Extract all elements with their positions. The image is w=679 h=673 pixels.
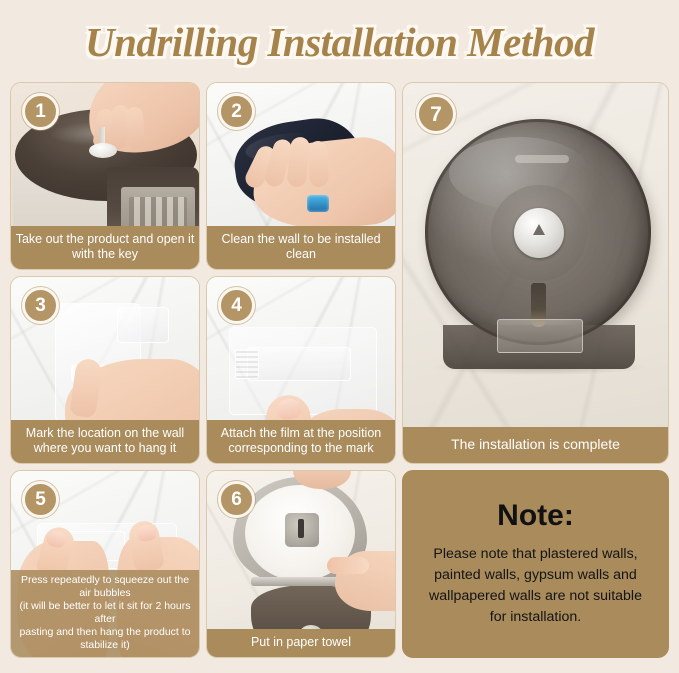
step-caption-5-line-2: (it will be better to let it sit for 2 h… [14,600,196,626]
key-knob [89,143,117,158]
page-title: Undrilling Installation Method [85,18,594,66]
page-header: Undrilling Installation Method [0,0,679,80]
blue-ring [307,195,329,212]
note-body-line-1: Please note that plastered walls, [429,544,642,565]
step-panel-6: 6 Put in paper towel [206,470,396,658]
dispenser-tray [497,319,583,353]
step-panel-4: 4 Attach the film at the position corres… [206,276,396,464]
finger [126,106,146,149]
step-number-badge-5: 5 [22,481,59,518]
adhesive-film-tab [235,349,259,379]
note-body-line-4: for installation. [429,607,642,628]
roll-hub-slot [298,519,304,538]
step-panel-1: 1 Take out the product and open it with … [10,82,200,270]
step-number-badge-3: 3 [22,287,59,324]
keyhole-icon [533,224,545,235]
step-caption-5: Press repeatedly to squeeze out the air … [11,570,199,657]
adhesive-hook-tab [117,307,169,343]
dispenser-vent-slot [515,155,569,163]
step-panel-5: 5 Press repeatedly to squeeze out the ai… [10,470,200,658]
step-caption-4: Attach the film at the position correspo… [207,420,395,463]
step-caption-2: Clean the wall to be installed clean [207,226,395,269]
step-panel-3: 3 Mark the location on the wall where yo… [10,276,200,464]
step-caption-5-line-1: Press repeatedly to squeeze out the air … [14,574,196,600]
step-number-badge-1: 1 [22,93,59,130]
step-caption-1: Take out the product and open it with th… [11,226,199,269]
step-caption-5-line-3: pasting and then hang the product to sta… [14,626,196,652]
adhesive-film-bracket [247,347,351,381]
step-number-badge-7: 7 [416,94,456,134]
step-number-badge-6: 6 [218,481,255,518]
note-body-line-3: wallpapered walls are not suitable [429,586,642,607]
pointing-finger [327,557,369,574]
note-body-line-2: painted walls, gypsum walls and [429,565,642,586]
step-number-badge-4: 4 [218,287,255,324]
note-panel: Note: Please note that plastered walls, … [402,470,669,658]
step-caption-6: Put in paper towel [207,629,395,657]
finger [308,141,329,188]
steps-grid: 1 Take out the product and open it with … [0,80,679,673]
step-7-photo [403,83,668,463]
note-heading: Note: [497,501,574,531]
note-body: Please note that plastered walls, painte… [429,544,642,628]
step-panel-7: 7 The installation is complete [402,82,669,464]
step-panel-2: 2 Clean the wall to be installed clean [206,82,396,270]
step-number-badge-2: 2 [218,93,255,130]
step-caption-7: The installation is complete [403,427,668,463]
step-caption-3: Mark the location on the wall where you … [11,420,199,463]
